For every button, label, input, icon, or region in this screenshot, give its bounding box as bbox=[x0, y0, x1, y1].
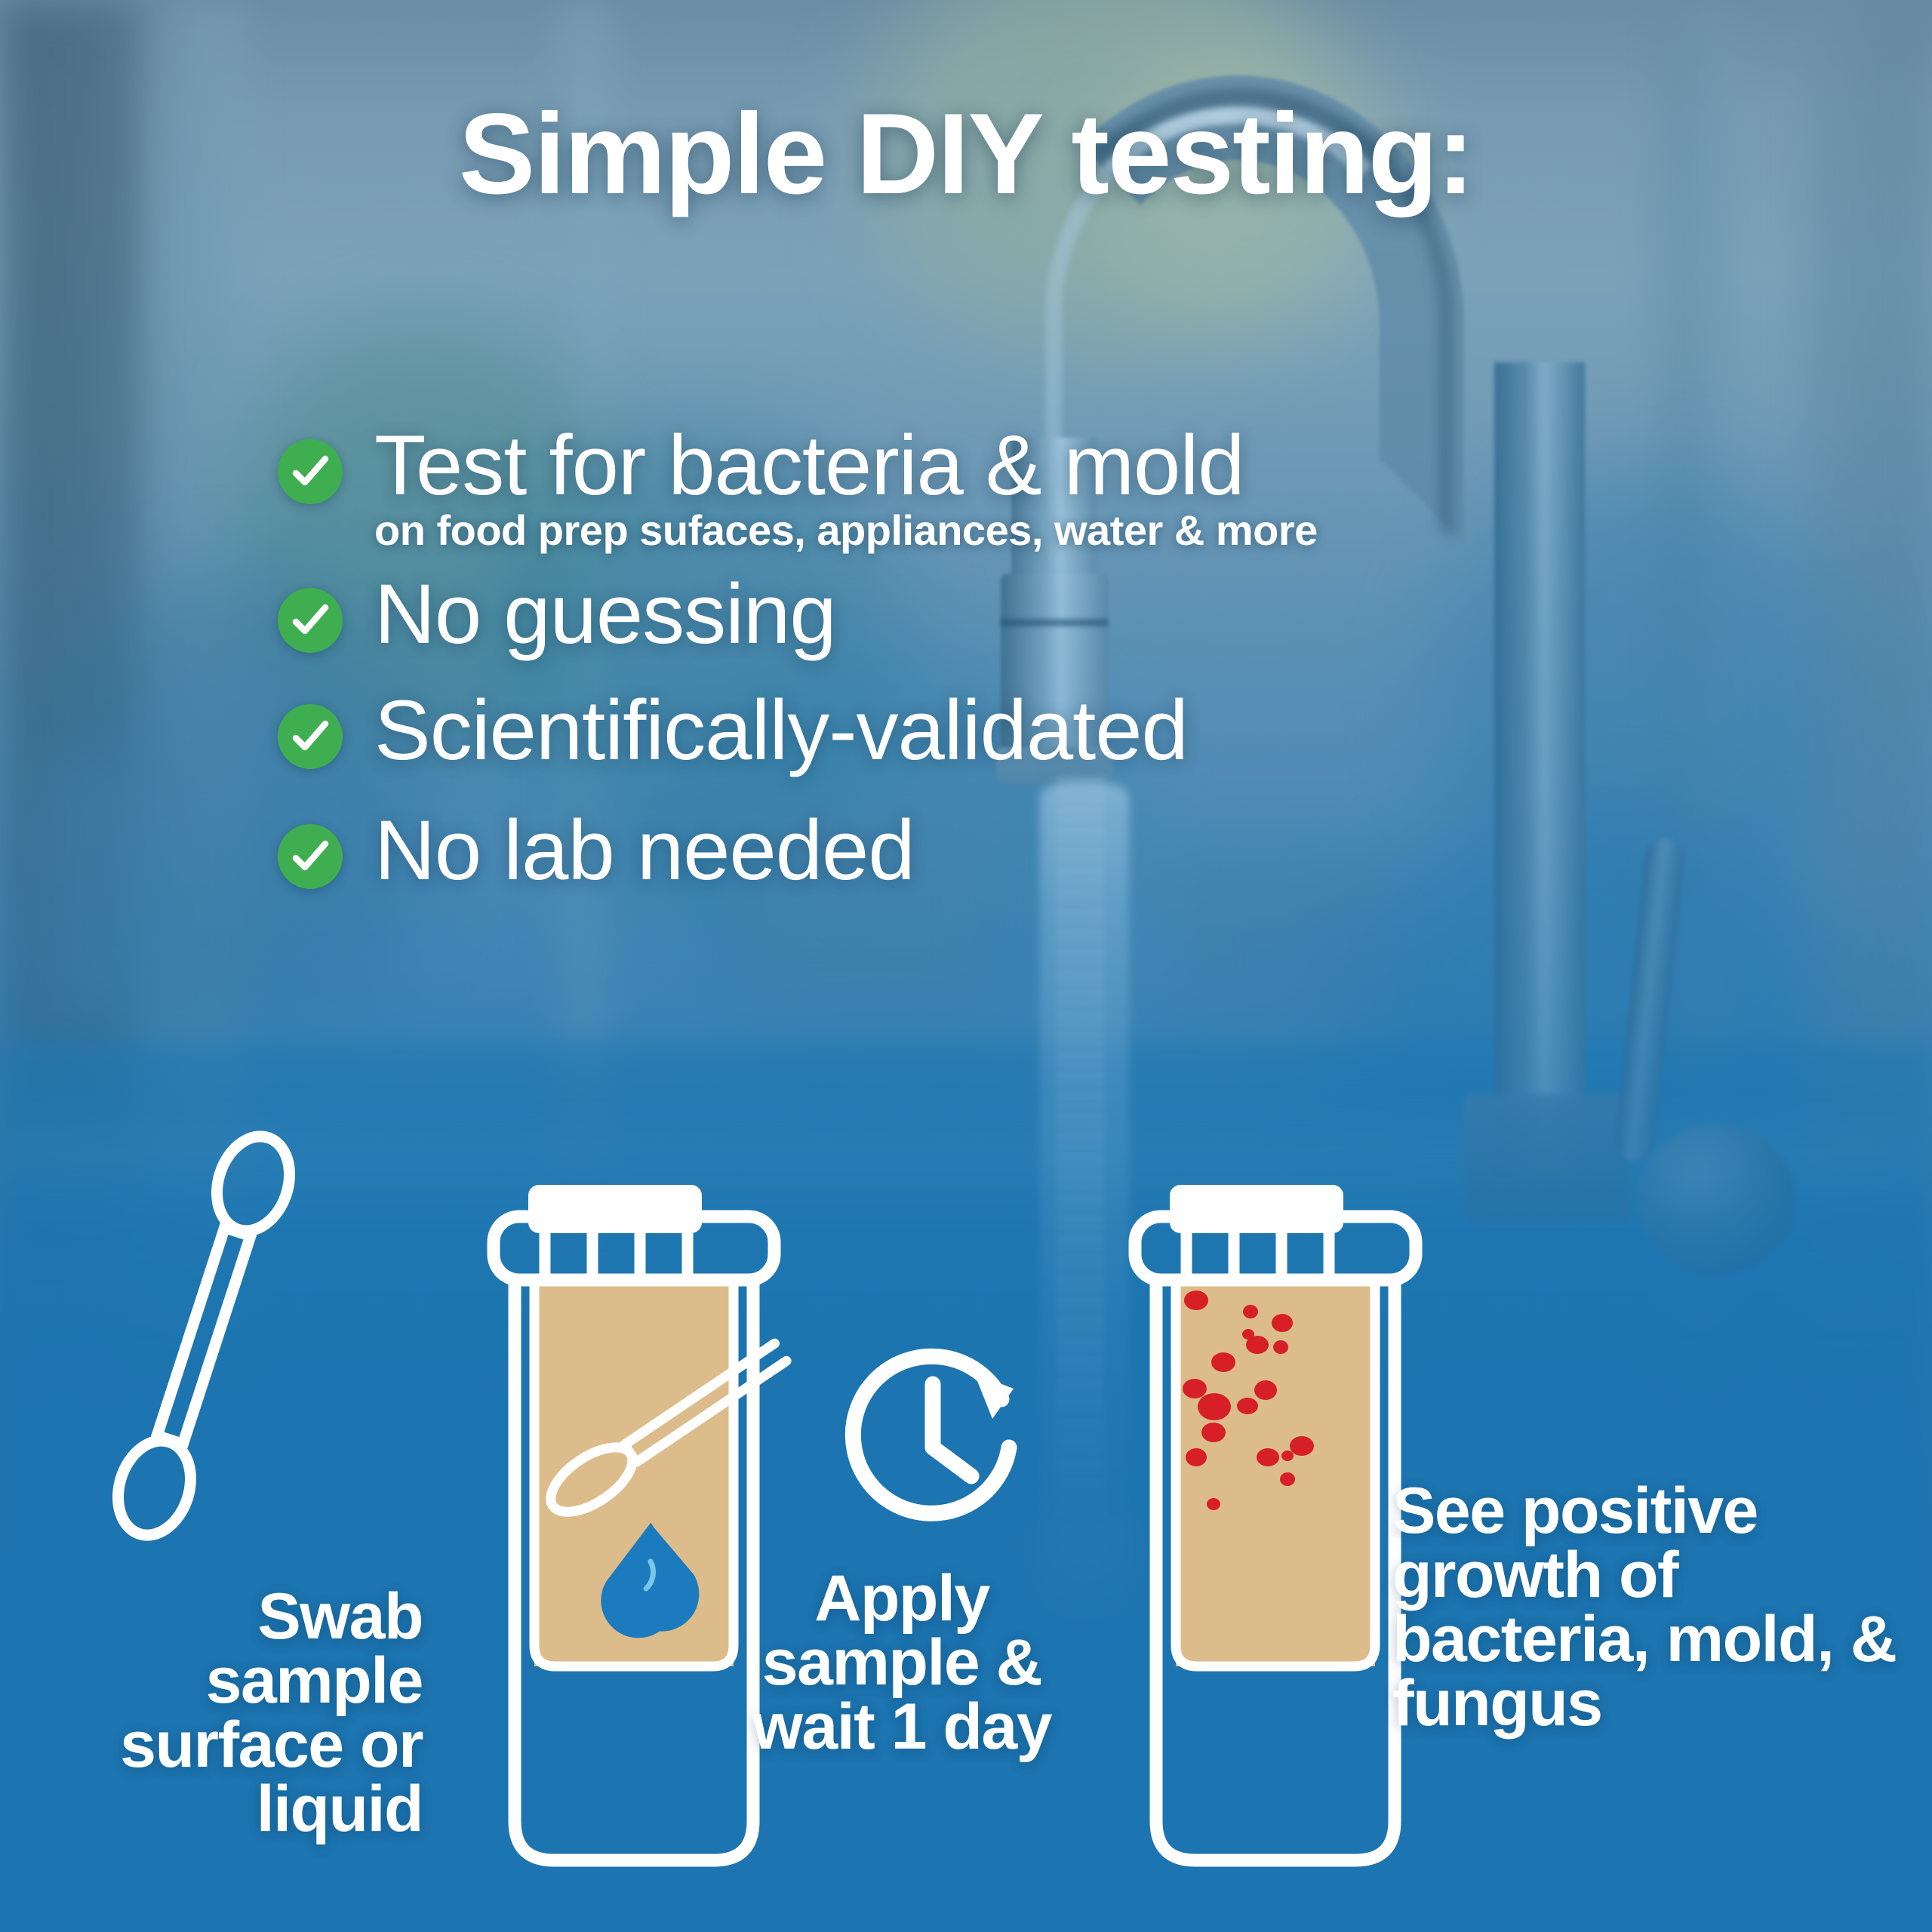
check-circle-icon bbox=[278, 439, 343, 504]
page-title: Simple DIY testing: bbox=[0, 97, 1932, 211]
benefit-item: Test for bacteria & mold on food prep su… bbox=[278, 423, 1878, 553]
benefit-label: Scientifically-validated bbox=[374, 683, 1188, 777]
cotton-swab-icon bbox=[91, 1124, 317, 1547]
sample-vial-with-swab-icon bbox=[483, 1183, 785, 1893]
benefit-item: No guessing bbox=[278, 571, 1878, 657]
step-caption: Swab sample surface or liquid bbox=[30, 1585, 423, 1842]
content-layer: Simple DIY testing: Test for bacteria & … bbox=[0, 0, 1932, 1932]
step-caption: Apply sample & wait 1 day bbox=[724, 1567, 1079, 1759]
check-circle-icon bbox=[278, 588, 343, 653]
how-it-works-steps: Swab sample surface or liquid bbox=[0, 1117, 1932, 1932]
sample-vial-with-colonies-icon bbox=[1124, 1183, 1426, 1893]
benefits-list: Test for bacteria & mold on food prep su… bbox=[278, 423, 1878, 894]
benefit-label: No lab needed bbox=[374, 803, 915, 897]
clock-rotate-icon bbox=[834, 1334, 1038, 1546]
benefit-sublabel: on food prep sufaces, appliances, water … bbox=[374, 506, 1318, 554]
benefit-label: Test for bacteria & mold bbox=[374, 418, 1244, 512]
benefit-item: No lab needed bbox=[278, 808, 1878, 894]
check-circle-icon bbox=[278, 824, 343, 889]
benefit-item: Scientifically-validated bbox=[278, 688, 1878, 774]
check-circle-icon bbox=[278, 704, 343, 769]
benefit-label: No guessing bbox=[374, 567, 836, 661]
promo-graphic: Simple DIY testing: Test for bacteria & … bbox=[0, 0, 1932, 1932]
step-caption: See positive growth of bacteria, mold, &… bbox=[1392, 1479, 1921, 1737]
